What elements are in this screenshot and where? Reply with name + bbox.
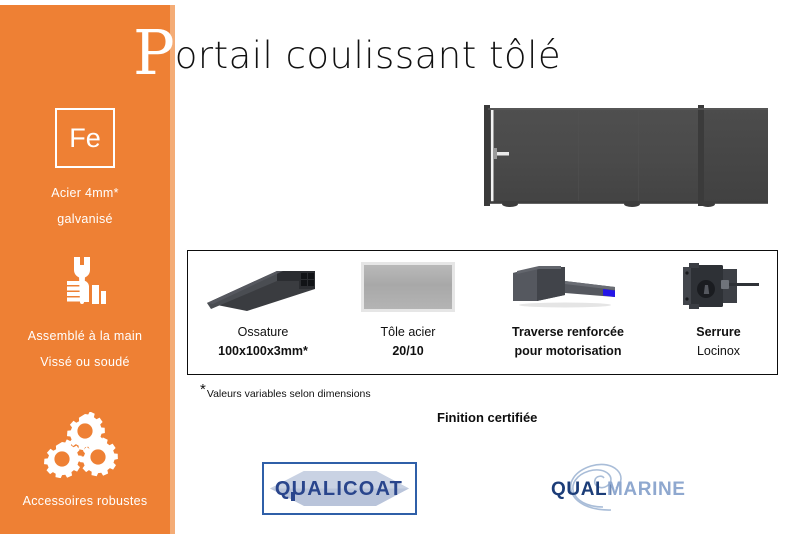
component-cell-frame: Ossature 100x100x3mm*: [188, 251, 338, 376]
component-name-crossbar: Traverse renforcée: [478, 323, 658, 342]
sidebar-feature-assembly: Assemblé à la main Vissé ou soudé: [0, 255, 170, 375]
title-text: ortail coulissant tôlé: [175, 34, 561, 77]
sidebar-feature-accessories: Accessoires robustes: [0, 412, 170, 514]
component-spec-frame: 100x100x3mm*: [188, 342, 338, 361]
component-name-lock: Serrure: [658, 323, 779, 342]
components-panel: Ossature 100x100x3mm* Tôle acier 20/10: [187, 250, 778, 375]
svg-text:MARINE: MARINE: [607, 479, 686, 500]
component-spec-sheet: 20/10: [338, 342, 478, 361]
fe-element-icon: Fe: [55, 108, 115, 168]
sidebar-feature-steel-line2: galvanisé: [0, 206, 170, 232]
slide-canvas: Fe Acier 4mm* galvanisé: [0, 0, 800, 534]
footnote-variable-values: *Valeurs variables selon dimensions: [200, 381, 371, 400]
svg-text:QUALI: QUALI: [551, 479, 613, 500]
component-cell-sheet: Tôle acier 20/10: [338, 251, 478, 376]
footnote-text: Valeurs variables selon dimensions: [207, 388, 371, 400]
page-title: Portail coulissant tôlé: [133, 22, 561, 84]
fe-symbol-label: Fe: [69, 125, 101, 152]
component-spec-crossbar: pour motorisation: [478, 342, 658, 361]
frame-profile-icon: [188, 257, 338, 317]
sidebar-feature-assembly-line2: Vissé ou soudé: [0, 349, 170, 375]
sliding-gate-photo: [470, 96, 770, 208]
sidebar-feature-accessories-line1: Accessoires robustes: [0, 488, 170, 514]
qualicoat-logo: QUALICOAT: [262, 462, 417, 515]
component-cell-crossbar: Traverse renforcée pour motorisation: [478, 251, 658, 376]
footnote-asterisk: *: [200, 381, 206, 398]
title-drop-cap: P: [133, 16, 175, 89]
reinforced-crossbar-icon: [478, 257, 658, 317]
component-spec-lock: Locinox: [658, 342, 779, 361]
sidebar-feature-steel: Fe Acier 4mm* galvanisé: [0, 108, 170, 232]
component-cell-lock: Serrure Locinox: [658, 251, 779, 376]
component-name-frame: Ossature: [188, 323, 338, 342]
hand-wrench-icon: [55, 255, 115, 313]
gears-icon: [43, 412, 127, 478]
qualimarine-logo: QUALI MARINE: [545, 461, 720, 516]
steel-sheet-icon: [338, 257, 478, 317]
component-name-sheet: Tôle acier: [338, 323, 478, 342]
sidebar-feature-assembly-line1: Assemblé à la main: [0, 323, 170, 349]
sidebar-feature-steel-line1: Acier 4mm*: [0, 180, 170, 206]
lock-icon: [658, 257, 779, 317]
finition-certifiee-label: Finition certifiée: [437, 410, 537, 425]
